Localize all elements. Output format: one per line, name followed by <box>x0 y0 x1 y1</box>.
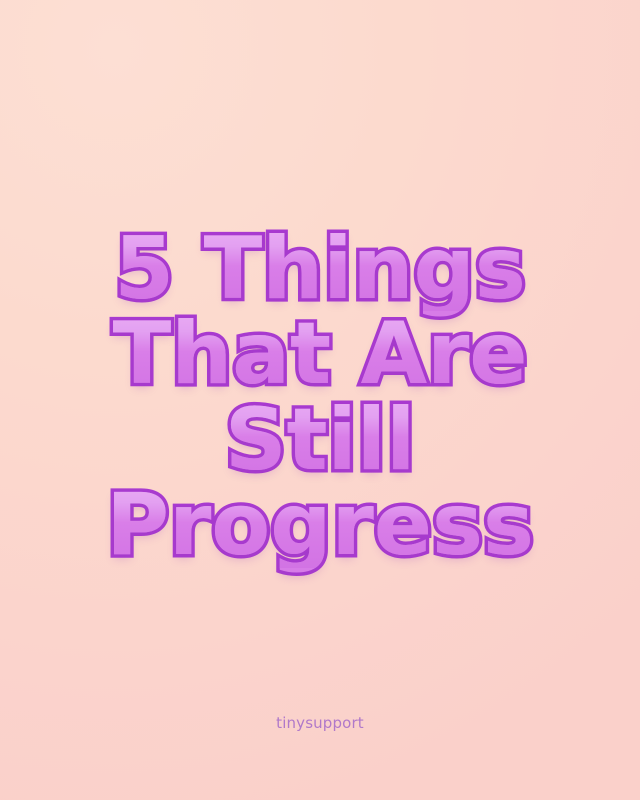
title-line-2: That Are That Are <box>0 313 640 396</box>
title-line-3-text: Still <box>225 399 416 482</box>
title-line-2-text: That Are <box>113 313 528 396</box>
footer-handle: tinysupport <box>0 714 640 732</box>
poster-title: 5 Things 5 Things That Are That Are Stil… <box>0 228 640 568</box>
title-line-4: Progress Progress <box>0 484 640 567</box>
title-line-1: 5 Things 5 Things <box>0 228 640 311</box>
poster-canvas: 5 Things 5 Things That Are That Are Stil… <box>0 0 640 800</box>
title-line-3: Still Still <box>0 399 640 482</box>
title-line-4-text: Progress <box>106 484 534 567</box>
title-line-1-text: 5 Things <box>114 228 526 311</box>
